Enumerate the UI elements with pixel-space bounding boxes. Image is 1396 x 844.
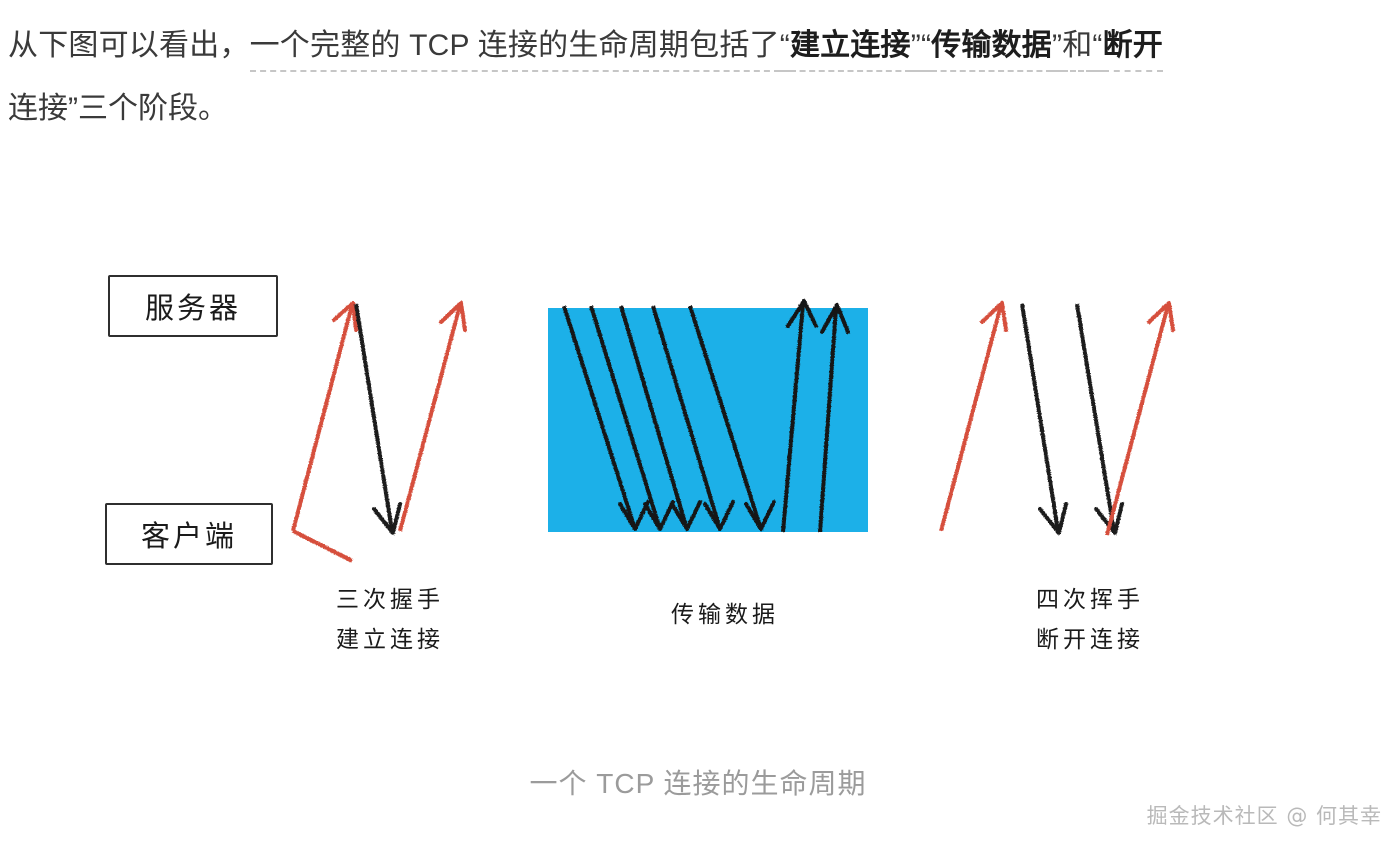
quote-close-2: ” xyxy=(1052,29,1062,72)
emphasis-close-connection-part2: 连接 xyxy=(8,92,68,125)
client-node-label: 客户端 xyxy=(141,513,237,555)
watermark: 掘金技术社区 @ 何其幸 xyxy=(1147,800,1382,830)
server-node-label: 服务器 xyxy=(145,285,241,327)
client-node-box: 客户端 xyxy=(105,503,273,565)
phase-label-transfer: 传输数据 xyxy=(625,595,825,635)
phase-handshake-line1: 三次握手 xyxy=(295,580,485,620)
quote-close-1: ” xyxy=(911,29,921,72)
emphasis-transfer-data: 传输数据 xyxy=(931,29,1052,72)
intro-text-part1: 从下图可以看出， xyxy=(8,29,250,62)
teardown-arrow-ack-1 xyxy=(1022,304,1066,533)
phase-label-handshake: 三次握手 建立连接 xyxy=(295,580,485,660)
quote-open-3: “ xyxy=(1092,29,1102,72)
emphasis-establish-connection: 建立连接 xyxy=(790,29,911,72)
teardown-arrow-group xyxy=(941,303,1173,535)
emphasis-close-connection-part1: 断开 xyxy=(1103,29,1163,72)
intro-conjunction: 和 xyxy=(1062,29,1092,72)
teardown-arrow-fin-1 xyxy=(941,303,1006,531)
quote-open-2: “ xyxy=(921,29,931,72)
handshake-arrow-syn-ack xyxy=(356,304,400,533)
phase-label-teardown: 四次挥手 断开连接 xyxy=(990,580,1190,660)
tcp-lifecycle-diagram: 服务器 客户端 三次握手 建立连接 传输数据 四次挥手 断开连接 xyxy=(0,250,1396,720)
figure-caption: 一个 TCP 连接的生命周期 xyxy=(0,762,1396,802)
handshake-arrow-group xyxy=(293,303,465,561)
phase-transfer-line1: 传输数据 xyxy=(625,595,825,635)
intro-text-part2: 一个完整的 TCP 连接的生命周期包括了 xyxy=(250,29,780,72)
phase-handshake-line2: 建立连接 xyxy=(295,620,485,660)
intro-text-tail: 三个阶段。 xyxy=(78,92,228,125)
quote-open-1: “ xyxy=(780,29,790,72)
teardown-arrow-ack-2 xyxy=(1107,303,1173,535)
phase-teardown-line2: 断开连接 xyxy=(990,620,1190,660)
server-node-box: 服务器 xyxy=(108,275,278,337)
quote-close-3: ” xyxy=(68,92,78,125)
handshake-arrow-syn xyxy=(293,303,356,561)
handshake-arrow-ack xyxy=(400,303,465,531)
phase-teardown-line1: 四次挥手 xyxy=(990,580,1190,620)
intro-paragraph: 从下图可以看出，一个完整的 TCP 连接的生命周期包括了“建立连接”“传输数据”… xyxy=(8,14,1378,77)
data-transfer-region xyxy=(548,308,868,532)
intro-paragraph-line2: 连接”三个阶段。 xyxy=(8,77,228,140)
